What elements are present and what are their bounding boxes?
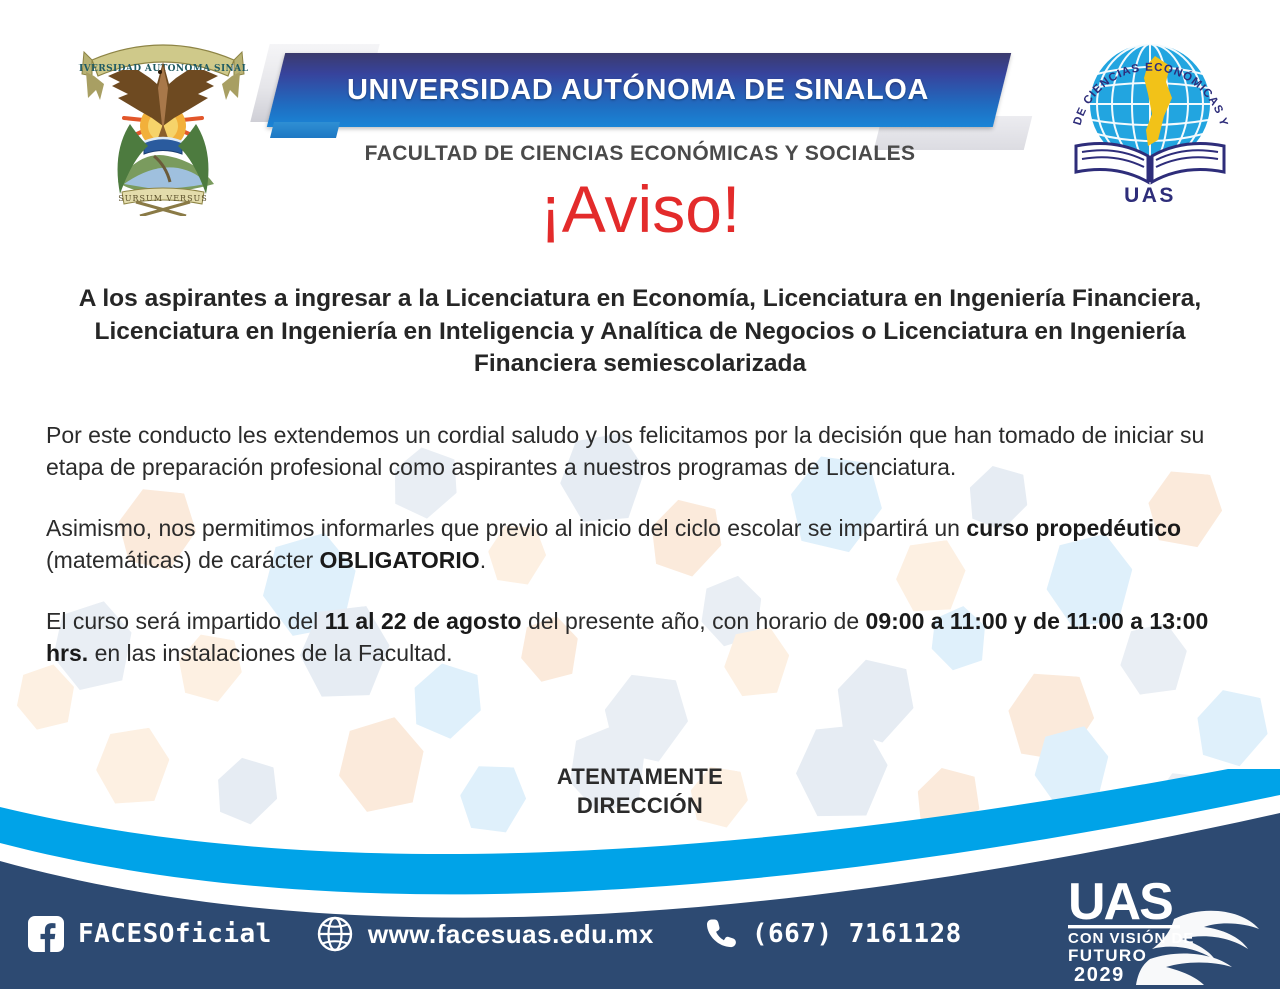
facebook-contact[interactable]: FACESOficial: [26, 914, 272, 954]
headline-text: A los aspirantes a ingresar a la Licenci…: [60, 283, 1220, 381]
faces-globe-book-logo-icon: FACULTAD DE CIENCIAS ECONÓMICAS Y SOCIAL…: [1058, 22, 1243, 207]
uas-acronym: UAS: [1068, 873, 1172, 931]
svg-text:FUTURO: FUTURO: [1068, 946, 1147, 965]
svg-text:2029: 2029: [1074, 964, 1125, 985]
phone-contact[interactable]: (667) 7161128: [702, 916, 962, 952]
p3-bold1: 11 al 22 de agosto: [325, 608, 522, 634]
paragraph-1: Por este conducto les extendemos un cord…: [46, 420, 1236, 483]
website-contact[interactable]: www.facesuas.edu.mx: [316, 915, 654, 953]
paragraph-3: El curso será impartido del 11 al 22 de …: [46, 606, 1236, 669]
p2-part1: Asimismo, nos permitimos informarles que…: [46, 515, 966, 541]
uas-coat-of-arms-icon: UNIVERSIDAD AUTONOMA SINALOA: [78, 26, 248, 216]
p2-bold1: curso propedéutico: [966, 515, 1181, 541]
svg-text:CON VISIÓN DE: CON VISIÓN DE: [1068, 929, 1194, 947]
paragraph-2: Asimismo, nos permitimos informarles que…: [46, 513, 1236, 576]
poster-root: UNIVERSIDAD AUTONOMA SINALOA: [0, 0, 1280, 989]
university-banner: UNIVERSIDAD AUTÓNOMA DE SINALOA: [258, 44, 1018, 146]
phone-number: (667) 7161128: [752, 919, 962, 949]
university-name: UNIVERSIDAD AUTÓNOMA DE SINALOA: [258, 53, 1018, 127]
p2-bold2: OBLIGATORIO: [320, 547, 480, 573]
svg-text:SURSUM VERSUS: SURSUM VERSUS: [118, 194, 208, 203]
p3-part1: El curso será impartido del: [46, 608, 325, 634]
p2-part3: .: [480, 547, 486, 573]
p3-part3: en las instalaciones de la Facultad.: [88, 640, 452, 666]
p3-part2: del presente año, con horario de: [522, 608, 866, 634]
svg-text:UAS: UAS: [1124, 184, 1176, 207]
uas-eagle-icon: UAS CON VISIÓN DE FUTURO 2029: [1054, 867, 1264, 985]
body-content: Por este conducto les extendemos un cord…: [46, 420, 1236, 699]
phone-icon: [702, 916, 738, 952]
facebook-icon: [26, 914, 66, 954]
globe-icon: [316, 915, 354, 953]
website-url: www.facesuas.edu.mx: [368, 919, 654, 950]
facebook-handle: FACESOficial: [78, 919, 272, 949]
p2-part2: (matemáticas) de carácter: [46, 547, 320, 573]
